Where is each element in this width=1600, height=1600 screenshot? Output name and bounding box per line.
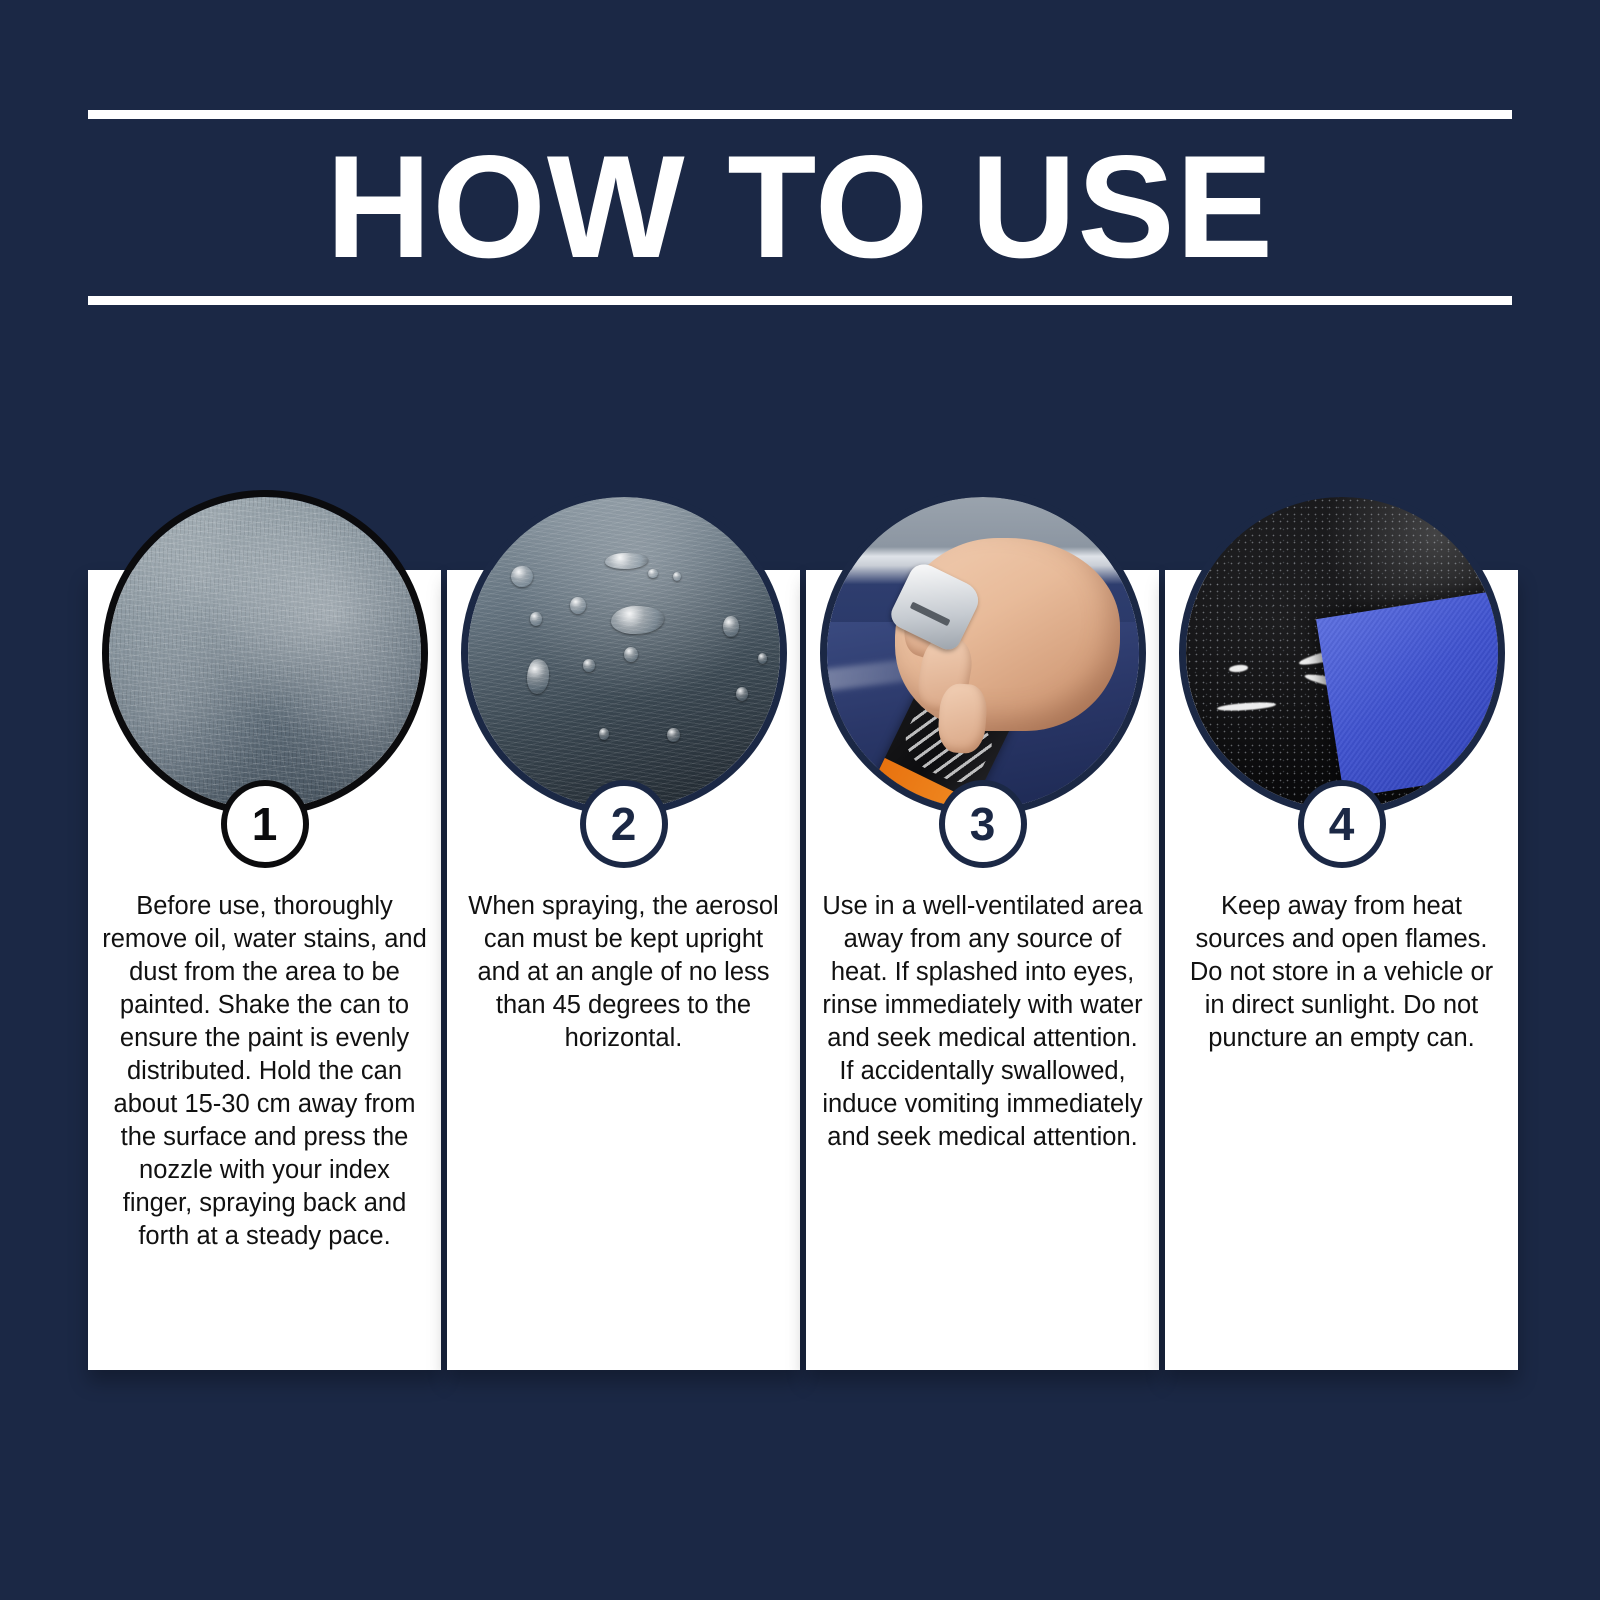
- water-droplet: [624, 647, 638, 663]
- water-droplet: [511, 566, 533, 588]
- water-droplet: [758, 653, 767, 664]
- step-number-badge-2: 2: [580, 780, 668, 868]
- step-image-2: [461, 490, 787, 816]
- microfiber-cloth: [1316, 589, 1497, 798]
- header-rule-bottom: [88, 296, 1512, 305]
- step-description-2: When spraying, the aerosol can must be k…: [461, 890, 786, 1055]
- step-description-3: Use in a well-ventilated area away from …: [820, 890, 1145, 1154]
- step-card-3: 3 Use in a well-ventilated area away fro…: [806, 490, 1159, 1370]
- water-droplet: [667, 728, 679, 742]
- step-card-1: 1 Before use, thoroughly remove oil, wat…: [88, 490, 441, 1370]
- water-droplet: [648, 569, 657, 578]
- finger: [936, 683, 987, 755]
- blue-microfiber-cloth-on-dark-paint-photo: [1186, 497, 1498, 809]
- water-droplet: [736, 687, 748, 701]
- step-number-badge-1: 1: [221, 780, 309, 868]
- water-droplet: [723, 616, 739, 638]
- water-droplet: [527, 659, 549, 693]
- nozzle-slot: [910, 601, 951, 626]
- hand-spraying-aerosol-can-on-blue-car-photo: [827, 497, 1139, 809]
- steps-container: 1 Before use, thoroughly remove oil, wat…: [88, 490, 1518, 1380]
- scratched-metallic-surface-photo: [109, 497, 421, 809]
- water-droplet: [599, 728, 610, 740]
- step-image-1: [102, 490, 428, 816]
- water-droplets-on-metal-photo: [468, 497, 780, 809]
- step-image-3: [820, 490, 1146, 816]
- step-description-4: Keep away from heat sources and open fla…: [1179, 890, 1504, 1055]
- water-droplet: [530, 612, 542, 626]
- step-image-4: [1179, 490, 1505, 816]
- water-droplet: [570, 597, 586, 614]
- water-droplet: [611, 606, 664, 634]
- step-number-badge-4: 4: [1298, 780, 1386, 868]
- page-header: HOW TO USE: [88, 110, 1512, 305]
- step-card-4: 4 Keep away from heat sources and open f…: [1165, 490, 1518, 1370]
- step-card-2: 2 When spraying, the aerosol can must be…: [447, 490, 800, 1370]
- water-droplet: [605, 553, 649, 569]
- water-droplet: [673, 572, 681, 581]
- water-droplet: [583, 659, 595, 671]
- step-number-badge-3: 3: [939, 780, 1027, 868]
- step-description-1: Before use, thoroughly remove oil, water…: [102, 890, 427, 1253]
- page-title: HOW TO USE: [88, 118, 1512, 296]
